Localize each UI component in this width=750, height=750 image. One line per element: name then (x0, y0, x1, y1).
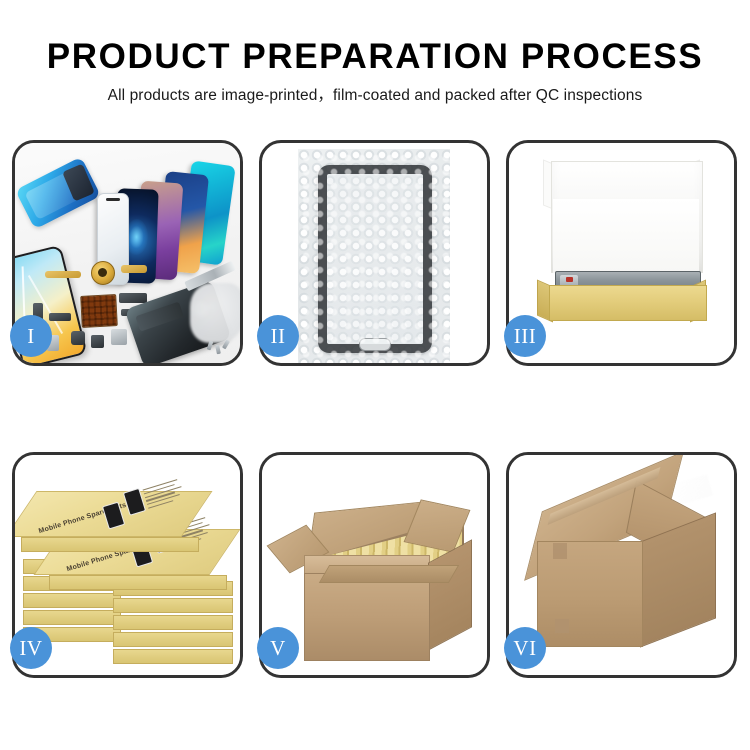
phone-fan-group (97, 161, 240, 276)
carton-front-panel (304, 573, 430, 661)
chip-array-icon (80, 294, 118, 328)
process-step-panel-2: II (259, 140, 490, 366)
stacked-box-edge (113, 615, 231, 628)
stacked-box-edge (113, 598, 231, 611)
page-subtitle: All products are image-printed，film-coat… (0, 85, 750, 107)
yellow-box-stack: Mobile Phone Spare Parts (21, 477, 237, 667)
carton-tab-lower (555, 619, 569, 633)
flex-cable-part-icon (121, 265, 147, 273)
inner-box-front-panel (549, 285, 707, 321)
stacked-box-edge (23, 593, 119, 606)
carton-front-flap (319, 565, 459, 583)
step-badge-5: V (257, 627, 299, 669)
step-badge-2: II (257, 315, 299, 357)
process-step-panel-6: VI (506, 452, 737, 678)
battery-part-icon (111, 329, 127, 345)
speaker-part-icon (71, 331, 85, 345)
step-badge-6: VI (504, 627, 546, 669)
process-step-panel-1: I (12, 140, 243, 366)
product-preparation-infographic: PRODUCT PREPARATION PROCESS All products… (0, 0, 750, 750)
stacked-box-edge (23, 610, 119, 623)
stacked-box-edge (113, 632, 231, 645)
process-step-panel-3: III (506, 140, 737, 366)
hand-blur-shape (190, 283, 240, 343)
step-badge-4: IV (10, 627, 52, 669)
process-step-panel-5: V (259, 452, 490, 678)
camera-part-icon (91, 335, 104, 348)
step-badge-1: I (10, 315, 52, 357)
ribbon-part-icon (119, 293, 147, 303)
process-step-panel-4: Mobile Phone Spare Parts (12, 452, 243, 678)
step-badge-3: III (504, 315, 546, 357)
page-title: PRODUCT PREPARATION PROCESS (0, 36, 750, 78)
coil-part-icon (91, 261, 115, 285)
header: PRODUCT PREPARATION PROCESS All products… (0, 36, 750, 107)
process-step-grid: I II (12, 140, 738, 686)
connector-part-icon (49, 313, 71, 321)
flex-cable-part-icon (45, 271, 81, 278)
screws-icon (206, 339, 232, 359)
stacked-box-edge (113, 649, 231, 662)
bubble-wrap-photo (298, 149, 450, 363)
foam-insert-icon (553, 199, 699, 273)
carton-tab-upper (553, 543, 567, 559)
phone-screen-glass-icon (318, 165, 432, 353)
